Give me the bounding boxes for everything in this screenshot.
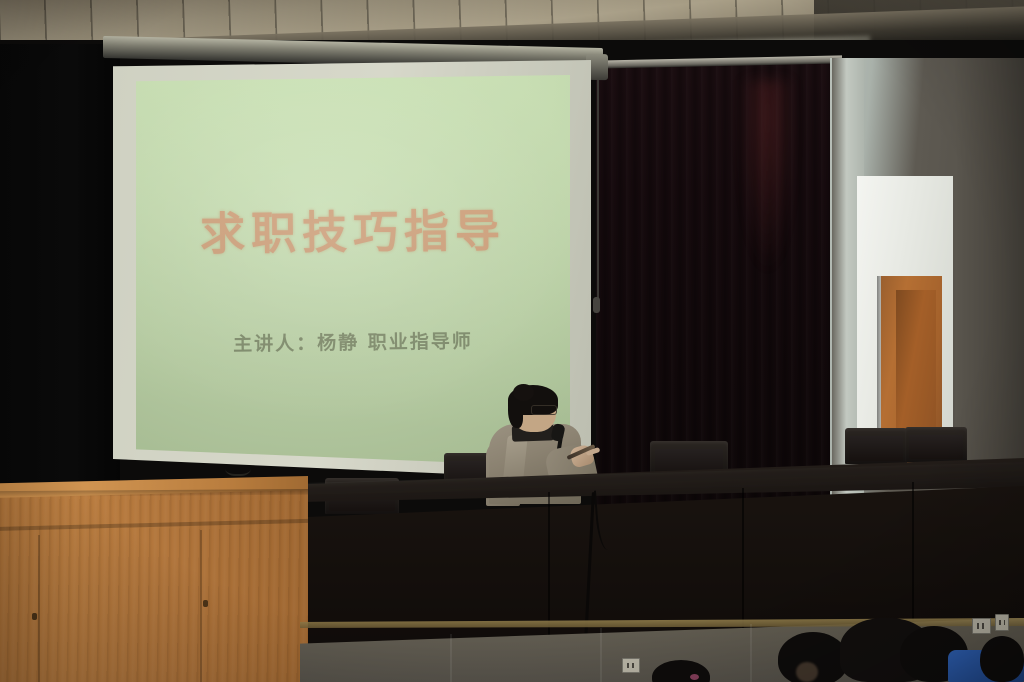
lecture-hall-photo: 求职技巧指导 主讲人：杨静 职业指导师	[0, 0, 1024, 682]
power-outlet[interactable]	[622, 658, 640, 673]
stage-curtain-left	[0, 44, 120, 504]
audience-head	[980, 636, 1024, 682]
screen-pull-cord[interactable]	[597, 72, 599, 300]
hanging-cable	[225, 458, 251, 476]
glasses-icon	[531, 405, 557, 415]
tile-seam	[750, 624, 752, 682]
podium-panel-seam	[38, 535, 40, 682]
chair[interactable]	[845, 428, 907, 464]
hair-clip	[690, 674, 699, 680]
curtain-highlight	[740, 80, 795, 270]
presenter-hair-bun	[513, 384, 534, 401]
podium-knob[interactable]	[203, 600, 208, 607]
screen-pull-cord-knob[interactable]	[593, 297, 600, 313]
audience-face	[796, 662, 818, 682]
podium-knob[interactable]	[32, 613, 37, 620]
podium-panel-seam	[200, 530, 202, 682]
light-switch[interactable]	[995, 614, 1009, 631]
chair[interactable]	[905, 427, 967, 462]
tile-seam	[600, 628, 602, 682]
tile-seam	[450, 634, 452, 682]
power-outlet[interactable]	[972, 618, 991, 634]
podium-wood-grain	[0, 484, 308, 682]
projection-screen	[136, 75, 570, 467]
slide-title: 求职技巧指导	[136, 194, 571, 264]
slide-subtitle: 主讲人：杨静 职业指导师	[136, 325, 570, 357]
